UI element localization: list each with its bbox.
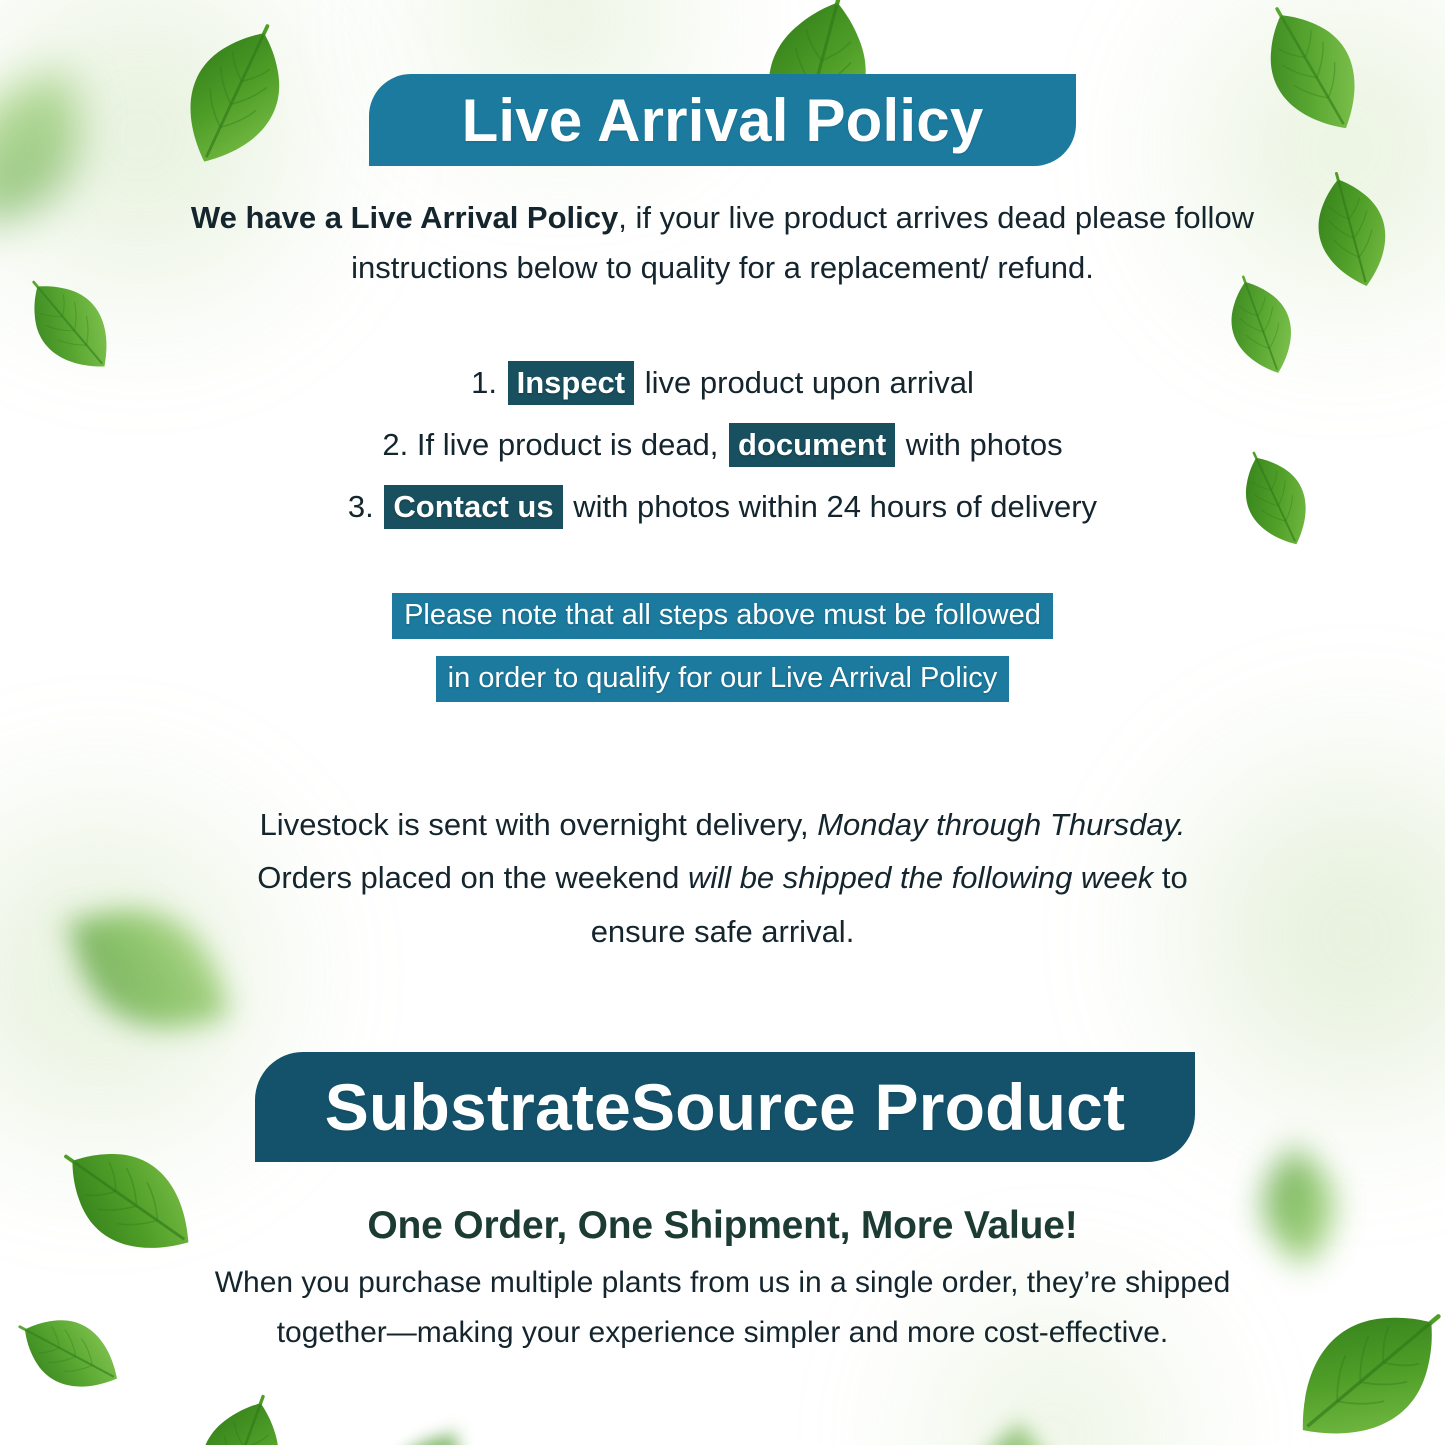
substratesource-product-title: SubstrateSource Product [325, 1069, 1125, 1145]
product-body-paragraph: When you purchase multiple plants from u… [0, 1258, 1445, 1358]
step-2-post: with photos [906, 427, 1063, 462]
shipping-schedule-paragraph: Livestock is sent with overnight deliver… [0, 798, 1445, 958]
shipping-italic-2: will be shipped the following week [688, 860, 1153, 895]
policy-step-2: 2. If live product is dead, document wit… [0, 414, 1445, 476]
step-1-post: live product upon arrival [645, 365, 974, 400]
shipping-seg-2: Orders placed on the weekend [257, 860, 688, 895]
policy-intro-bold: We have a Live Arrival Policy [191, 200, 618, 235]
live-arrival-policy-banner: Live Arrival Policy [369, 74, 1076, 166]
policy-steps-list: 1. Inspect live product upon arrival 2. … [0, 352, 1445, 538]
step-1-number: 1. [471, 365, 497, 400]
step-1-highlight: Inspect [508, 361, 635, 405]
shipping-italic-1: Monday through Thursday. [817, 807, 1185, 842]
policy-note-block: Please note that all steps above must be… [0, 584, 1445, 710]
step-2-number: 2. [382, 427, 408, 462]
step-3-post: with photos within 24 hours of delivery [573, 489, 1097, 524]
step-3-number: 3. [348, 489, 374, 524]
policy-intro-paragraph: We have a Live Arrival Policy, if your l… [0, 193, 1445, 293]
live-arrival-policy-title: Live Arrival Policy [462, 86, 984, 155]
policy-note-line-1: Please note that all steps above must be… [392, 593, 1053, 639]
shipping-seg-1: Livestock is sent with overnight deliver… [260, 807, 818, 842]
marketing-page: Live Arrival Policy We have a Live Arriv… [0, 0, 1445, 1445]
step-2-pre: If live product is dead, [417, 427, 719, 462]
policy-step-1: 1. Inspect live product upon arrival [0, 352, 1445, 414]
step-2-highlight: document [729, 423, 895, 467]
policy-step-3: 3. Contact us with photos within 24 hour… [0, 476, 1445, 538]
policy-note-row-2: in order to qualify for our Live Arrival… [0, 647, 1445, 710]
policy-note-line-2: in order to qualify for our Live Arrival… [436, 656, 1010, 702]
product-subheading: One Order, One Shipment, More Value! [0, 1194, 1445, 1257]
substratesource-product-banner: SubstrateSource Product [255, 1052, 1195, 1162]
step-3-highlight: Contact us [384, 485, 562, 529]
policy-note-row-1: Please note that all steps above must be… [0, 584, 1445, 647]
